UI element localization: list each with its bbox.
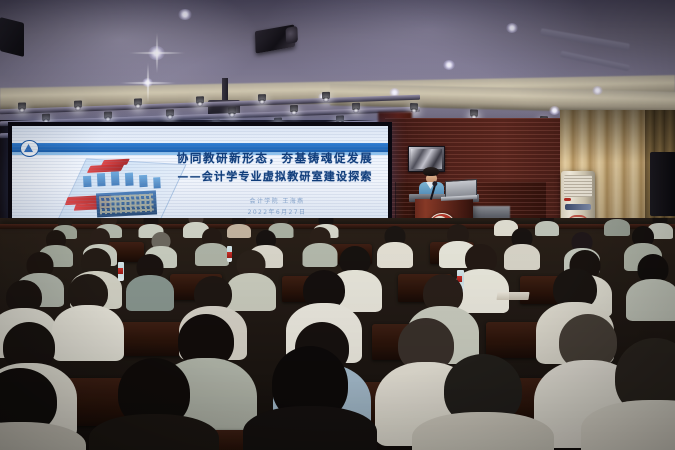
- audience-member: [536, 218, 558, 236]
- ceiling-downlight-4: [506, 23, 518, 33]
- spotlight: [74, 100, 82, 107]
- person-shoulders: [412, 412, 554, 450]
- spotlight: [410, 103, 418, 110]
- audience-member: [196, 228, 228, 264]
- spotlight: [470, 109, 478, 116]
- audience-member: [590, 338, 675, 450]
- ac-indicator: [564, 198, 571, 201]
- ceiling-downlight-2: [142, 78, 153, 87]
- spotlight: [258, 94, 266, 101]
- ceiling-corner-speaker: [0, 17, 24, 57]
- wall-pa-speaker: [650, 152, 675, 216]
- person-shoulders: [581, 400, 675, 450]
- illustration-classroom: [96, 190, 157, 217]
- spotlight: [18, 102, 26, 109]
- audience-member: [628, 254, 675, 316]
- illustration-block: [83, 176, 92, 187]
- person-shoulders: [243, 406, 377, 450]
- spotlight: [196, 96, 204, 103]
- audience-member: [228, 218, 250, 237]
- conference-hall-photo: 协同教研新形态，夯基铸魂促发展 ——会计学专业虚拟教研室建设探索 会计学院 王海…: [0, 0, 675, 450]
- slide-date: 2022年6月27日: [248, 209, 307, 216]
- ceiling-downlight-5: [443, 60, 455, 70]
- audience-member: [128, 254, 172, 308]
- audience-member: [0, 368, 80, 450]
- slide-subtitle: 会计学院 王海燕 2022年6月27日: [182, 196, 372, 218]
- audience-area: [0, 218, 675, 450]
- person-shoulders: [89, 414, 219, 450]
- ac-control-band: [565, 204, 591, 210]
- slide-title: 协同教研新形态，夯基铸魂促发展 ——会计学专业虚拟教研室建设探索: [167, 150, 383, 185]
- institution-seal-logo: [20, 140, 39, 157]
- person-shoulders: [195, 243, 229, 266]
- spotlight: [166, 109, 174, 116]
- person-shoulders: [377, 242, 413, 268]
- spotlight: [42, 114, 50, 121]
- audience-member: [378, 226, 412, 266]
- spotlight: [104, 111, 112, 118]
- slide-presenter: 会计学院 王海燕: [249, 198, 304, 205]
- audience-member: [96, 358, 212, 450]
- slide-title-line1: 协同教研新形态，夯基铸魂促发展: [177, 151, 374, 165]
- person-shoulders: [504, 244, 540, 270]
- presenter-hair: [423, 167, 439, 176]
- ceiling-downlight-7: [592, 86, 603, 95]
- person-shoulders: [227, 224, 251, 238]
- illustration-block: [97, 173, 106, 186]
- illustration-block: [153, 177, 161, 188]
- spotlight: [134, 98, 142, 105]
- spotlight: [352, 103, 360, 110]
- ceiling-downlight-1: [148, 46, 165, 60]
- notebook: [496, 292, 529, 300]
- presenter-laptop: [441, 180, 475, 200]
- audience-member: [505, 228, 539, 268]
- ceiling-downlight-3: [178, 9, 192, 20]
- audience-member: [250, 346, 370, 450]
- spotlight: [290, 105, 298, 112]
- spotlight: [322, 92, 330, 99]
- illustration-block: [139, 175, 148, 187]
- projector-lens: [286, 26, 298, 44]
- person-shoulders: [0, 422, 86, 450]
- ac-grille: [564, 175, 592, 197]
- audience-member: [420, 354, 546, 450]
- slide-title-line2: ——会计学专业虚拟教研室建设探索: [167, 168, 383, 185]
- spotlight: [228, 107, 236, 114]
- illustration-block: [125, 173, 134, 186]
- illustration-block: [111, 171, 120, 185]
- person-shoulders: [126, 275, 174, 311]
